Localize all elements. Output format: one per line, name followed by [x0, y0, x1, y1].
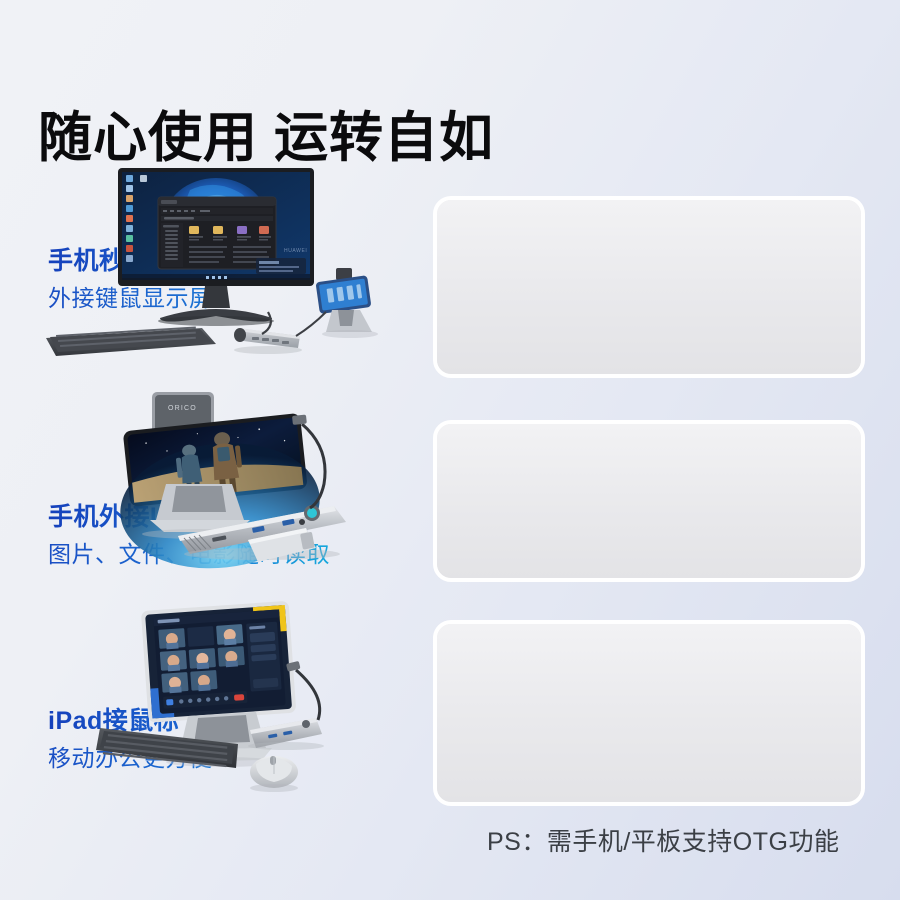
panel-background [437, 200, 861, 374]
keyboard [46, 326, 216, 356]
product-photo-panel-ipad-mouse [433, 620, 865, 806]
product-photo-panel-phone-usb-drive [433, 420, 865, 582]
video-meeting-app [153, 609, 285, 714]
scene-ipad-keyboard-hub-mouse [0, 592, 432, 812]
panel-background [437, 424, 861, 578]
phone-stand: ORICO [152, 392, 214, 436]
product-feature-page: 随心使用 运转自如 手机秒变电脑主机 外接键鼠显示屏 手机外接U盘 图片、文件、… [0, 0, 900, 900]
feature-title: 手机外接U盘 [48, 502, 418, 533]
brand-label: ORICO [168, 405, 197, 412]
tablet [141, 601, 296, 723]
feature-text-ipad-mouse: iPad接鼠标 移动办公更方便 [48, 706, 418, 774]
usb-c-hub [234, 328, 302, 354]
astronaut-right [209, 430, 244, 494]
feature-title: 手机秒变电脑主机 [48, 246, 418, 277]
feature-subtitle: 移动办公更方便 [48, 744, 418, 774]
feature-text-phone-to-pc: 手机秒变电脑主机 外接键鼠显示屏 [48, 246, 418, 314]
participant-grid [158, 624, 246, 694]
end-call-button [234, 694, 244, 701]
folder-tiles [189, 226, 271, 241]
usb-c-connector [292, 415, 307, 425]
feature-subtitle: 外接键鼠显示屏 [48, 284, 418, 314]
panel-background [437, 624, 861, 802]
feature-title: iPad接鼠标 [48, 706, 418, 737]
cable [262, 312, 271, 334]
astronaut-left [175, 444, 204, 496]
feature-text-phone-usb-drive: 手机外接U盘 图片、文件、电影随时读取 [48, 502, 418, 570]
page-title: 随心使用 运转自如 [38, 108, 494, 168]
product-photo-panel-phone-to-pc [433, 196, 865, 378]
usb-c-connector [286, 661, 301, 672]
footnote-otg-requirement: PS：需手机/平板支持OTG功能 [487, 822, 839, 858]
cable [302, 424, 325, 508]
feature-subtitle: 图片、文件、电影随时读取 [48, 540, 418, 570]
